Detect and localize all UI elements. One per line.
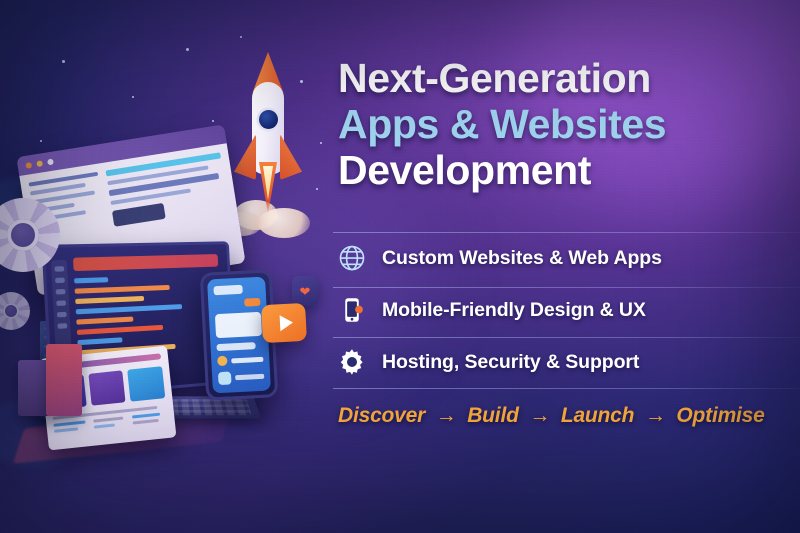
- arrow-right-icon: →: [640, 404, 671, 427]
- feature-row-mobile[interactable]: Mobile-Friendly Design & UX: [333, 284, 800, 336]
- cta-step-2: Build: [467, 404, 519, 427]
- smartphone-icon: [336, 294, 368, 326]
- feature-row-websites[interactable]: Custom Websites & Web Apps: [333, 232, 800, 284]
- headline-line-1: Next-Generation: [338, 58, 788, 99]
- divider-bottom: [333, 388, 800, 389]
- rocket-fin-left: [234, 134, 256, 180]
- heart-badge: ❤: [292, 276, 318, 306]
- arrow-right-icon: →: [431, 404, 462, 427]
- cta-step-4: Optimise: [676, 404, 764, 427]
- cta-process-steps: Discover → Build → Launch → Optimise: [338, 404, 765, 428]
- feature-label: Mobile-Friendly Design & UX: [382, 299, 646, 322]
- play-icon: [279, 315, 293, 332]
- rocket-fin-right: [280, 134, 302, 180]
- promo-banner: ❤: [0, 0, 800, 533]
- rocket-illustration: [228, 50, 308, 225]
- feature-list: Custom Websites & Web Apps Mobile-Friend…: [333, 232, 800, 388]
- decor-block-red: [46, 344, 82, 416]
- gear-cog-large-icon: [0, 198, 60, 272]
- gear-icon: [336, 346, 368, 378]
- play-button-graphic: [261, 303, 307, 343]
- headline-block: Next-Generation Apps & Websites Developm…: [338, 58, 788, 191]
- rocket-porthole: [259, 110, 278, 129]
- content-column: Next-Generation Apps & Websites Developm…: [333, 0, 800, 533]
- phone-app-screen: [207, 277, 271, 394]
- feature-row-hosting[interactable]: Hosting, Security & Support: [333, 336, 800, 388]
- cta-step-3: Launch: [561, 404, 634, 427]
- cta-step-1: Discover: [338, 404, 425, 427]
- feature-label: Custom Websites & Web Apps: [382, 247, 662, 270]
- heart-icon: ❤: [300, 285, 311, 298]
- gear-cog-small-icon: [0, 292, 30, 330]
- feature-label: Hosting, Security & Support: [382, 351, 639, 374]
- editor-header-bar: [73, 254, 218, 271]
- arrow-right-icon: →: [524, 404, 555, 427]
- headline-line-2: Apps & Websites: [338, 104, 788, 145]
- globe-icon: [336, 242, 368, 274]
- headline-line-3: Development: [338, 150, 788, 191]
